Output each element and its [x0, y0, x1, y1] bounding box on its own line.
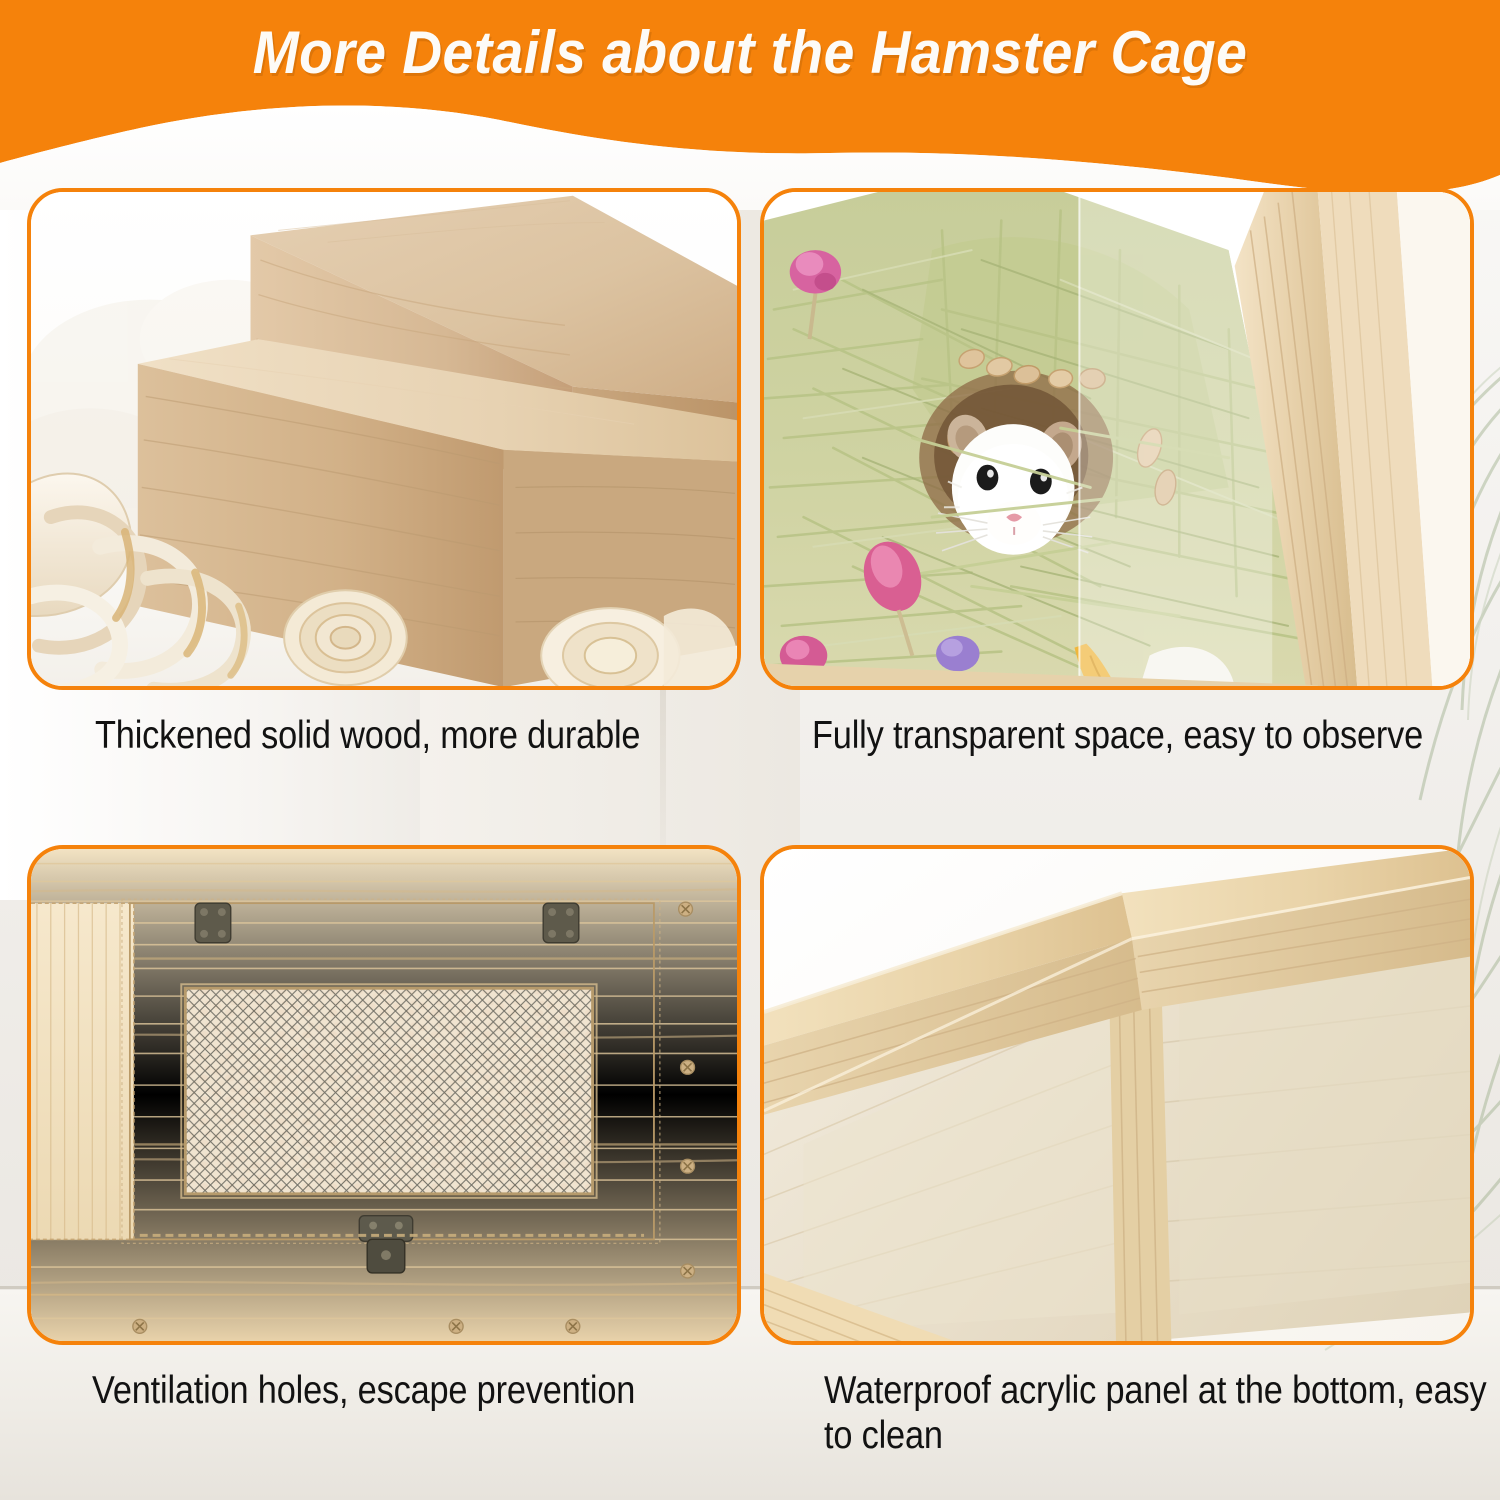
feature-card-transparent-space[interactable]	[760, 188, 1474, 690]
page-background: More Details about the Hamster Cage	[0, 0, 1500, 1500]
feature-card-waterproof-acrylic[interactable]	[760, 845, 1474, 1345]
feature-image-hamster-in-hay	[760, 188, 1474, 690]
feature-grid: Thickened solid wood, more durable	[0, 0, 1500, 1500]
feature-image-ventilation-door	[27, 845, 741, 1345]
feature-image-solid-wood	[27, 188, 741, 690]
feature-caption-ventilation-holes: Ventilation holes, escape prevention	[92, 1368, 761, 1413]
feature-image-acrylic-bottom	[760, 845, 1474, 1345]
feature-card-thickened-wood[interactable]	[27, 188, 741, 690]
feature-caption-thickened-wood: Thickened solid wood, more durable	[95, 713, 764, 758]
feature-caption-transparent-space: Fully transparent space, easy to observe	[812, 713, 1481, 758]
feature-caption-waterproof-acrylic: Waterproof acrylic panel at the bottom, …	[824, 1368, 1500, 1458]
feature-card-ventilation-holes[interactable]	[27, 845, 741, 1345]
